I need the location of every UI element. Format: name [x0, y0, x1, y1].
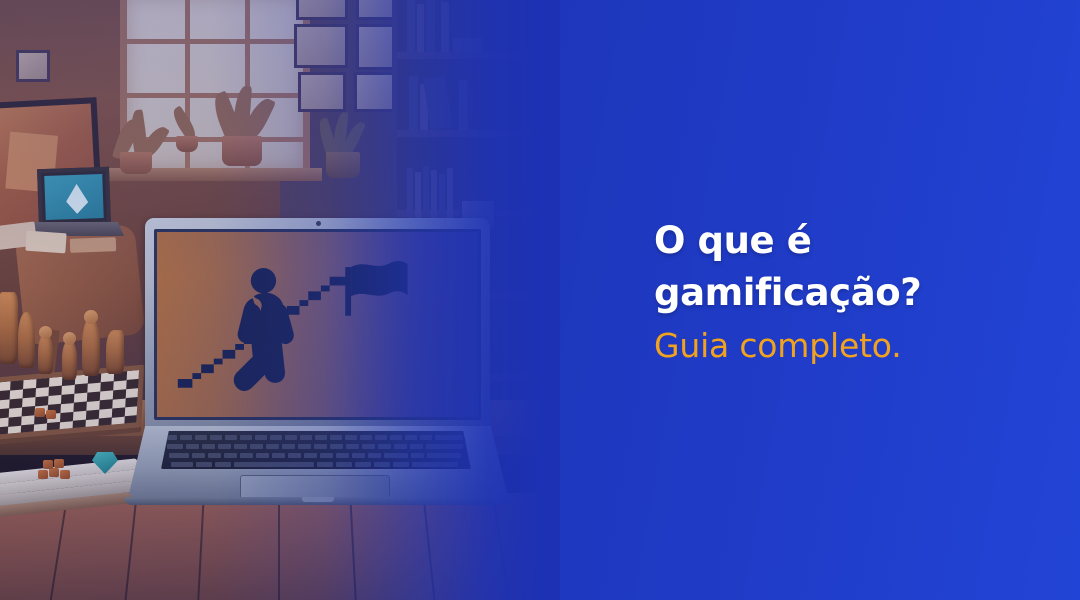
paper: [70, 237, 116, 253]
book: [453, 38, 483, 52]
picture-frame: [294, 24, 348, 68]
chess-piece-head: [39, 326, 52, 339]
stairs-to-flag-pictogram: [157, 232, 478, 417]
flower-pot: [176, 136, 198, 152]
book: [407, 0, 415, 52]
background-laptop-screen: [37, 167, 111, 227]
dice: [46, 410, 56, 419]
page-title: O que é gamificação?: [654, 215, 1054, 319]
chess-piece-knight: [106, 330, 124, 374]
picture-frame: [298, 72, 346, 112]
chess-piece-bishop: [18, 312, 35, 368]
laptop-keyboard: [161, 431, 471, 469]
chess-piece-crown: [84, 310, 98, 324]
book: [426, 0, 435, 52]
chess-piece-pawn: [62, 340, 77, 380]
laptop-screen: [154, 229, 481, 420]
gamification-banner: O que é gamificação? Guia completo.: [0, 0, 1080, 600]
headline-block: O que é gamificação? Guia completo.: [654, 215, 1054, 367]
laptop-lid: [145, 218, 490, 430]
picture-frame: [296, 0, 348, 20]
book: [417, 4, 424, 52]
book: [441, 2, 449, 52]
paper: [25, 231, 66, 254]
main-laptop: [145, 218, 490, 508]
page-subtitle: Guia completo.: [654, 325, 1054, 367]
book: [409, 76, 418, 130]
chess-piece-rook: [0, 292, 18, 364]
chess-piece-head: [63, 332, 76, 345]
illustration-scene: [0, 0, 560, 600]
webcam: [316, 221, 321, 226]
chess-piece-pawn: [38, 334, 53, 374]
chess-piece-queen: [82, 318, 100, 376]
picture-frame: [16, 50, 50, 82]
flower-pot: [222, 136, 262, 166]
flower-pot: [120, 152, 152, 174]
laptop-open-notch: [302, 497, 334, 502]
book: [459, 80, 468, 130]
background-laptop-logo: [66, 184, 89, 215]
dice: [35, 408, 45, 417]
flower-pot: [326, 152, 360, 178]
